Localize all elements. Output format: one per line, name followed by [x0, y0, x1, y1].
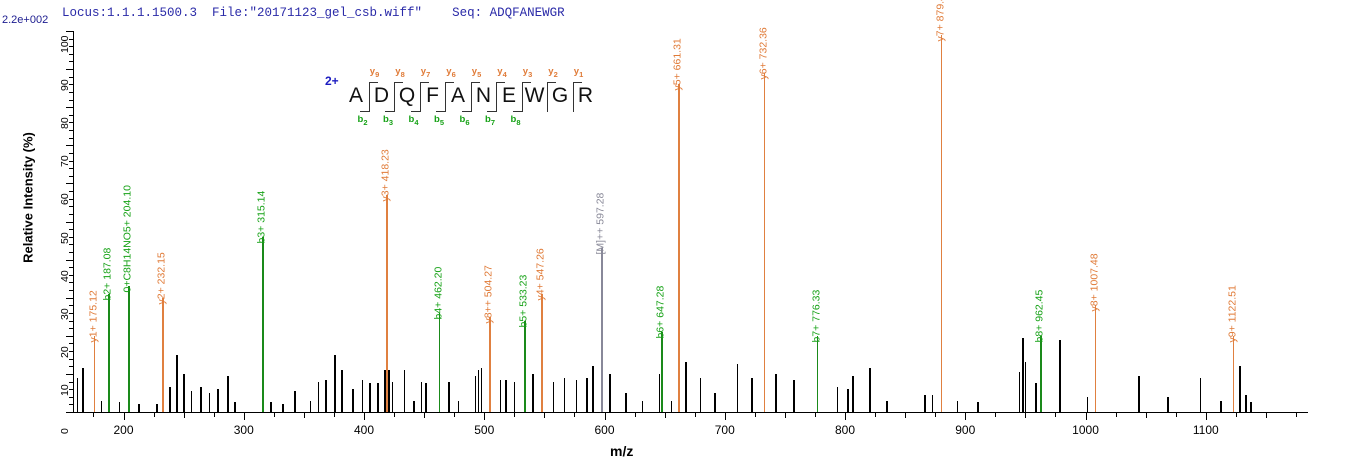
y-axis-label: Relative Intensity (%) [21, 118, 36, 278]
peak-unassigned [377, 383, 379, 412]
peak-unassigned [592, 366, 594, 412]
peak-y-ion [162, 298, 164, 412]
peak-unassigned [392, 382, 394, 412]
peak-y-ion [678, 84, 680, 412]
peak-unassigned [553, 382, 555, 412]
residue-letter: A [349, 84, 363, 107]
x-tick-minor [424, 412, 425, 418]
x-tick-minor [214, 412, 215, 417]
x-tick-major [965, 412, 966, 420]
x-axis-line [73, 412, 1308, 413]
residue-letter: E [502, 84, 516, 107]
x-tick-minor [184, 412, 185, 418]
x-tick-minor [1025, 412, 1026, 418]
fragment-label-b8: b8 [511, 114, 521, 127]
peak-unassigned [924, 395, 926, 412]
fragment-tick [471, 82, 472, 112]
x-tick-minor [514, 412, 515, 417]
x-tick-minor [394, 412, 395, 417]
x-tick-label: 1000 [1072, 423, 1099, 437]
peak-label: 0+C8H14NO5+ 204.10 [123, 185, 134, 292]
y-tick-minor [69, 92, 73, 93]
x-tick-label: 400 [354, 423, 374, 437]
peak-unassigned [625, 393, 627, 412]
locus-file-seq-header: Locus:1.1.1.1500.3 File:"20171123_gel_cs… [62, 6, 565, 20]
peak-unassigned [1250, 402, 1252, 412]
peak-unassigned [352, 389, 354, 412]
residue-letter: F [426, 84, 439, 107]
x-tick-minor [1116, 412, 1117, 417]
peak-unassigned [700, 378, 702, 412]
peak-b-ion [1040, 336, 1042, 412]
x-axis-label: m/z [610, 443, 633, 459]
fragment-label-b2: b2 [358, 114, 368, 127]
peak-unassigned [1059, 340, 1061, 412]
x-tick-minor [935, 412, 936, 417]
fragment-tick-bottom-arm [487, 111, 496, 112]
peak-y-ion [541, 294, 543, 412]
y-tick-label: 30 [59, 298, 71, 320]
y-tick-label: 100 [59, 31, 71, 53]
peak-unassigned [564, 378, 566, 412]
fragment-label-y7: y7 [421, 66, 430, 79]
peak-unassigned [1025, 362, 1027, 412]
peak-unassigned [156, 404, 158, 412]
peak-unassigned [388, 370, 390, 412]
peak-b-ion [661, 332, 663, 412]
peak-y-ion [386, 195, 388, 412]
residue-letter: G [552, 84, 568, 107]
peak-unassigned [209, 393, 211, 412]
fragment-tick [547, 82, 548, 112]
peak-unassigned [869, 368, 871, 412]
x-tick-minor [1055, 412, 1056, 417]
peak-b-ion [524, 321, 526, 412]
peak-label: b6+ 647.28 [656, 286, 667, 339]
peak-unassigned [1220, 401, 1222, 412]
peak-unassigned [586, 378, 588, 412]
peak-unassigned [369, 383, 371, 412]
x-tick-minor [995, 412, 996, 417]
peak-unassigned [448, 382, 450, 412]
fragment-tick-top-arm [496, 82, 505, 83]
x-tick-minor [334, 412, 335, 417]
peak-unassigned [478, 370, 480, 412]
x-tick-minor [1146, 412, 1147, 418]
peak-label: b2+ 187.08 [102, 248, 113, 301]
x-tick-minor [875, 412, 876, 417]
peak-unassigned [1138, 376, 1140, 412]
peak-unassigned [775, 374, 777, 412]
fragment-tick-bottom-arm [360, 111, 369, 112]
peak-unassigned [82, 368, 84, 412]
peak-label: y2+ 232.15 [157, 252, 168, 304]
peak-unassigned [362, 380, 364, 412]
spectrum-viewer: Locus:1.1.1.1500.3 File:"20171123_gel_cs… [0, 0, 1362, 473]
y-tick-label: 20 [59, 336, 71, 358]
y-tick-minor [69, 328, 73, 329]
peak-unassigned [413, 401, 415, 412]
x-tick-major [1206, 412, 1207, 420]
fragment-tick [420, 82, 421, 112]
y-tick-minor [69, 321, 73, 322]
peak-label: y6+ 732.36 [758, 27, 769, 79]
x-tick-minor [1176, 412, 1177, 417]
fragment-label-b7: b7 [485, 114, 495, 127]
peak-label: b5+ 533.23 [519, 274, 530, 327]
peak-y-ion [1233, 336, 1235, 412]
peak-unassigned [576, 380, 578, 412]
fragment-label-b5: b5 [434, 114, 444, 127]
residue-q-3: Q [394, 84, 420, 108]
peak-b-ion [262, 237, 264, 412]
peak-unassigned [481, 368, 483, 412]
residue-letter: N [476, 84, 491, 107]
peak-unassigned [119, 402, 121, 412]
fragment-label-y2: y2 [548, 66, 557, 79]
residue-f-4: F [420, 84, 446, 108]
peak-unassigned [642, 401, 644, 412]
fragment-tick-top-arm [369, 82, 378, 83]
fragment-tick [445, 82, 446, 112]
x-tick-minor [695, 412, 696, 417]
peak-unassigned [1245, 395, 1247, 412]
fragment-tick-top-arm [394, 82, 403, 83]
peak-unassigned [334, 355, 336, 412]
x-tick-label: 800 [835, 423, 855, 437]
y-tick-minor [69, 176, 73, 177]
peak-unassigned [1167, 397, 1169, 412]
peak-unassigned [270, 402, 272, 412]
peak-unassigned [932, 395, 934, 412]
peak-unassigned [1087, 397, 1089, 412]
peak-unassigned [183, 374, 185, 412]
peak-y-ion [489, 317, 491, 412]
fragment-tick-bottom-arm [436, 111, 445, 112]
peak-unassigned [671, 401, 673, 412]
peak-label: y7+ 879.42 [935, 0, 946, 41]
peak-unassigned [176, 355, 178, 412]
fragment-tick-bottom-arm [513, 111, 522, 112]
residue-e-7: E [496, 84, 522, 108]
peak-label: b4+ 462.20 [433, 267, 444, 320]
y-tick-minor [69, 290, 73, 291]
peak-label: y9+ 1122.51 [1227, 285, 1238, 342]
peak-unassigned [609, 374, 611, 412]
peak-b-ion [439, 313, 441, 412]
peak-b-ion [128, 286, 130, 412]
peak-unassigned [957, 401, 959, 412]
y-tick-label: 90 [59, 69, 71, 91]
peak-label: b8+ 962.45 [1035, 289, 1046, 342]
y-tick-minor [69, 168, 73, 169]
fragment-label-b6: b6 [460, 114, 470, 127]
y-tick-minor [69, 100, 73, 101]
peak-y-ion [1095, 305, 1097, 412]
peak-unassigned [793, 380, 795, 412]
residue-g-9: G [547, 84, 573, 108]
peak-unassigned [1200, 378, 1202, 412]
peak-unassigned [751, 378, 753, 412]
peak-unassigned [458, 401, 460, 412]
peak-unassigned [685, 362, 687, 412]
fragment-label-y5: y5 [472, 66, 481, 79]
x-tick-minor [1266, 412, 1267, 418]
fragment-tick-top-arm [547, 82, 556, 83]
y-tick-label: 80 [59, 107, 71, 129]
peak-unassigned [318, 382, 320, 412]
fragment-tick-bottom-arm [462, 111, 471, 112]
residue-n-6: N [471, 84, 497, 108]
peak-y-ion [94, 336, 96, 412]
peak-unassigned [421, 382, 423, 412]
y-tick-minor [69, 366, 73, 367]
peak-unassigned [341, 370, 343, 412]
y-tick-minor [69, 206, 73, 207]
fragment-tick-bottom-arm [411, 111, 420, 112]
x-tick-minor [574, 412, 575, 417]
peak-unassigned [837, 387, 839, 412]
fragment-tick-top-arm [471, 82, 480, 83]
residue-letter: D [374, 84, 389, 107]
fragment-label-y9: y9 [370, 66, 379, 79]
peak-unassigned [191, 391, 193, 412]
peak-unassigned [310, 401, 312, 412]
peak-unassigned [1022, 338, 1024, 412]
fragment-tick-top-arm [573, 82, 582, 83]
x-tick-major [364, 412, 365, 420]
y-tick-minor [69, 244, 73, 245]
peak-unassigned [532, 374, 534, 412]
x-tick-minor [1236, 412, 1237, 417]
fragment-tick [573, 82, 574, 112]
precursor-charge-label: 2+ [325, 74, 339, 88]
fragment-tick [369, 82, 370, 112]
fragment-label-y4: y4 [497, 66, 506, 79]
peak-label: y4+ 547.26 [536, 248, 547, 300]
fragment-label-y3: y3 [523, 66, 532, 79]
x-tick-major [244, 412, 245, 420]
peak-y-ion [764, 73, 766, 412]
x-tick-major [124, 412, 125, 420]
residue-w-8: W [522, 84, 548, 108]
peak-unassigned [169, 387, 171, 412]
y-tick-minor [69, 61, 73, 62]
peak-unassigned [659, 374, 661, 412]
x-tick-minor [785, 412, 786, 418]
x-tick-minor [154, 412, 155, 417]
peak-unassigned [852, 376, 854, 412]
peak-unassigned [475, 376, 477, 412]
x-tick-minor [1296, 412, 1297, 417]
fragment-tick [394, 82, 395, 112]
x-tick-minor [905, 412, 906, 418]
fragment-tick-top-arm [445, 82, 454, 83]
fragment-label-y1: y1 [574, 66, 583, 79]
fragment-tick-top-arm [522, 82, 531, 83]
peak-unassigned [1019, 372, 1021, 412]
y-tick-minor [69, 138, 73, 139]
peak-unassigned [101, 401, 103, 412]
y-tick-minor [69, 282, 73, 283]
y-tick-minor [69, 252, 73, 253]
peak-unassigned [500, 380, 502, 412]
peak-unassigned [886, 401, 888, 412]
y-tick-label: 10 [59, 374, 71, 396]
x-tick-minor [454, 412, 455, 417]
x-tick-minor [635, 412, 636, 417]
y-tick-label: 50 [59, 222, 71, 244]
y-tick-label: 60 [59, 183, 71, 205]
x-tick-major [484, 412, 485, 420]
peak-unassigned [282, 404, 284, 412]
peak-label: b3+ 315.14 [256, 190, 267, 243]
x-tick-label: 600 [595, 423, 615, 437]
residue-letter: A [451, 84, 465, 107]
residue-letter: W [525, 84, 545, 107]
x-tick-major [605, 412, 606, 420]
x-tick-label: 700 [715, 423, 735, 437]
peak-unassigned [977, 402, 979, 412]
x-tick-major [845, 412, 846, 420]
residue-a-5: A [445, 84, 471, 108]
peak-unassigned [714, 393, 716, 412]
x-tick-label: 900 [955, 423, 975, 437]
intensity-scale-label: 2.2e+002 [2, 14, 48, 26]
peak-unassigned [294, 391, 296, 412]
x-tick-minor [815, 412, 816, 417]
peak-unassigned [227, 376, 229, 412]
x-tick-minor [274, 412, 275, 417]
residue-a-1: A [343, 84, 369, 108]
fragment-tick [522, 82, 523, 112]
peak-unassigned [404, 370, 406, 412]
peak-unassigned [1035, 383, 1037, 412]
peak-unassigned [737, 364, 739, 412]
x-tick-major [725, 412, 726, 420]
peak-label: b7+ 776.33 [811, 289, 822, 342]
peak-unassigned [234, 402, 236, 412]
fragment-label-y6: y6 [446, 66, 455, 79]
peak-y-ion [941, 35, 943, 412]
y-tick-minor [69, 54, 73, 55]
residue-letter: R [578, 84, 593, 107]
peak-b-ion [108, 294, 110, 412]
residue-d-2: D [369, 84, 395, 108]
y-tick-label: 40 [59, 260, 71, 282]
peak-unassigned [200, 387, 202, 412]
fragment-label-b4: b4 [409, 114, 419, 127]
y-tick-label: 70 [59, 145, 71, 167]
peak-unassigned [425, 383, 427, 412]
x-tick-minor [304, 412, 305, 418]
peak-unassigned [1239, 366, 1241, 412]
peak-unassigned [217, 389, 219, 412]
fragment-tick [496, 82, 497, 112]
y-tick-minor [69, 404, 73, 405]
peak-label: y1+ 175.12 [88, 290, 99, 342]
fragment-label-b3: b3 [383, 114, 393, 127]
peak-unassigned [325, 380, 327, 412]
x-tick-minor [755, 412, 756, 417]
fragment-tick-bottom-arm [385, 111, 394, 112]
x-tick-minor [93, 412, 94, 417]
peak-b-ion [817, 336, 819, 412]
peak-unassigned [77, 378, 79, 412]
residue-letter: Q [399, 84, 415, 107]
peak-label: y8++ 504.27 [484, 265, 495, 323]
x-tick-minor [544, 412, 545, 418]
peak-label: [M]++ 597.28 [596, 193, 607, 255]
y-tick-minor [69, 214, 73, 215]
x-tick-label: 300 [234, 423, 254, 437]
y-tick-minor [69, 397, 73, 398]
x-tick-minor [665, 412, 666, 418]
x-tick-major [1086, 412, 1087, 420]
fragment-label-y8: y8 [395, 66, 404, 79]
y-tick-label: 0 [59, 412, 71, 434]
x-tick-label: 200 [113, 423, 133, 437]
y-axis-line [73, 31, 74, 412]
peak-label: y3+ 418.23 [380, 149, 391, 201]
peak-label: y8+ 1007.48 [1089, 254, 1100, 312]
plot-area: 0102030405060708090100 20030040050060070… [73, 31, 1308, 412]
y-tick-minor [69, 359, 73, 360]
x-tick-label: 1100 [1193, 423, 1219, 437]
peak-unassigned [847, 389, 849, 412]
peak-unassigned [514, 382, 516, 412]
peak-precursor-ion [601, 248, 603, 412]
peak-label: y5+ 661.31 [673, 39, 684, 91]
y-tick-minor [69, 130, 73, 131]
residue-r-10: R [573, 84, 599, 108]
peak-unassigned [138, 404, 140, 412]
peak-unassigned [505, 380, 507, 412]
x-tick-label: 500 [474, 423, 494, 437]
fragment-tick-top-arm [420, 82, 429, 83]
